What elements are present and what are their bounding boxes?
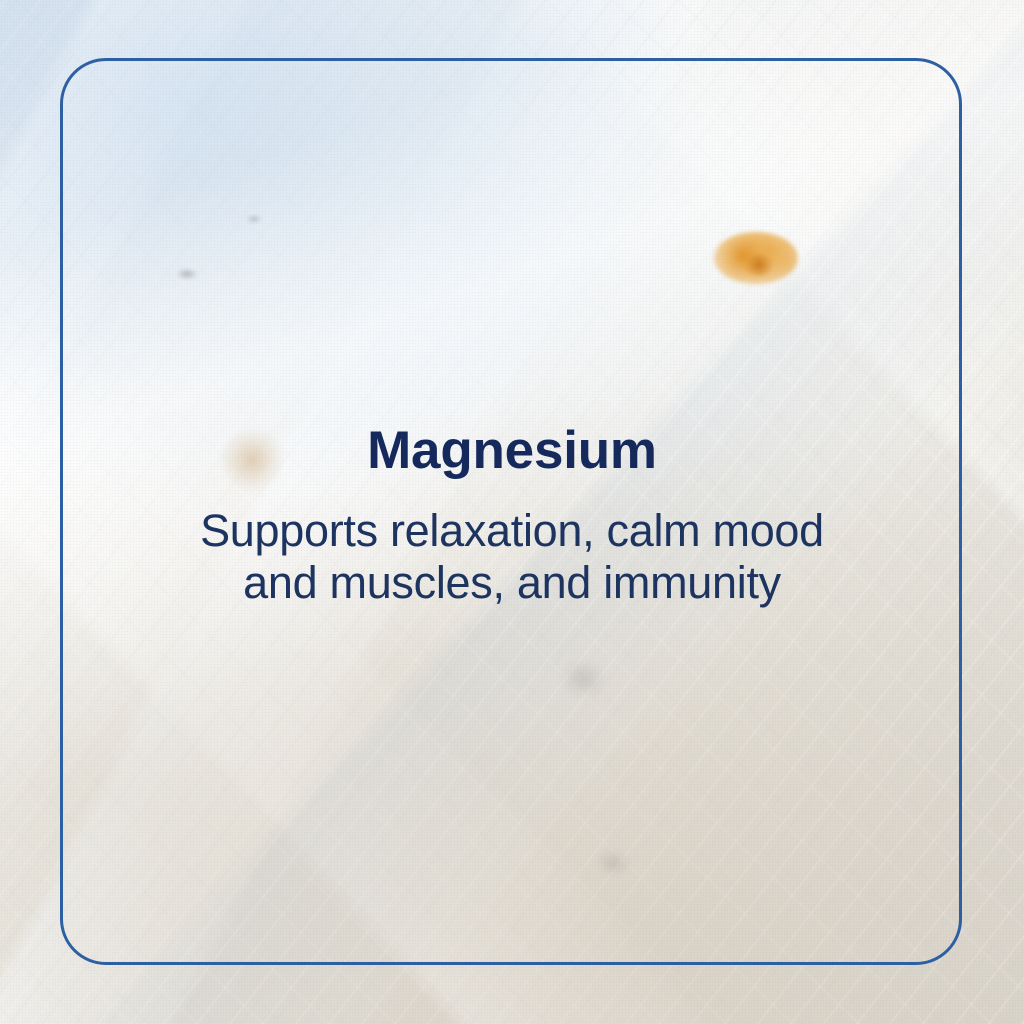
card-subtitle-line-2: and muscles, and immunity <box>0 557 1024 609</box>
magnesium-info-card: Magnesium Supports relaxation, calm mood… <box>0 0 1024 1024</box>
card-subtitle-line-1: Supports relaxation, calm mood <box>0 505 1024 557</box>
card-subtitle: Supports relaxation, calm mood and muscl… <box>0 505 1024 609</box>
card-title: Magnesium <box>0 420 1024 482</box>
